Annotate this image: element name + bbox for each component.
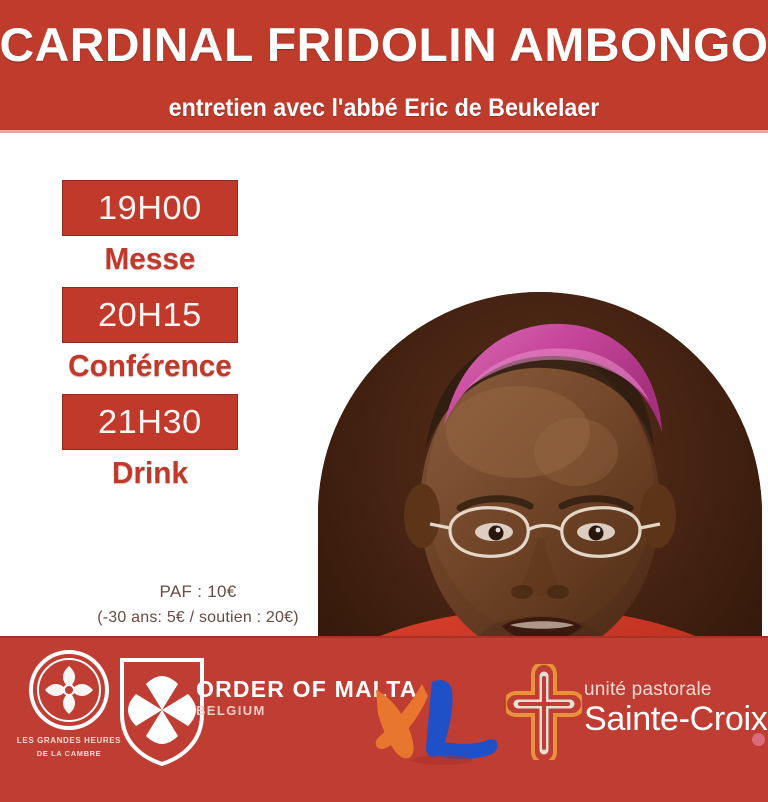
logo-caption: LES GRANDES HEURES DE LA CAMBRE [14,734,124,760]
schedule-time-box: 19H00 [62,180,238,236]
sainte-croix-line-2: Sainte-Croix [584,700,767,738]
logo-les-grandes-heures: LES GRANDES HEURES DE LA CAMBRE [14,648,124,780]
rosette-icon [14,648,124,780]
schedule-item: 20H15 Conférence [40,287,280,384]
poster-header: CARDINAL FRIDOLIN AMBONGO entretien avec… [0,0,768,133]
schedule-item: 21H30 Drink [40,394,280,491]
logo-sainte-croix-cross [506,664,582,760]
poster-footer: LES GRANDES HEURES DE LA CAMBRE OR [0,636,768,802]
sponsor-logo-row: LES GRANDES HEURES DE LA CAMBRE OR [0,636,768,802]
schedule-label: Drink [44,455,255,491]
schedule-label: Conférence [44,348,255,384]
cross-icon [506,664,582,760]
page-title: CARDINAL FRIDOLIN AMBONGO [0,19,768,71]
poster-body: 19H00 Messe 20H15 Conférence 21H30 Drink… [0,136,768,636]
schedule-label: Messe [44,241,255,277]
logo-xl [372,668,502,768]
cambre-line-2: DE LA CAMBRE [14,747,124,760]
schedule-list: 19H00 Messe 20H15 Conférence 21H30 Drink… [40,180,280,501]
sainte-croix-logo-text: unité pastorale Sainte-Croix [584,678,767,738]
pricing-info: PAF : 10€ (-30 ans: 5€ / soutien : 20€) [48,580,348,630]
schedule-time: 21H30 [98,403,202,441]
price-main: PAF : 10€ [48,580,348,604]
event-poster: CARDINAL FRIDOLIN AMBONGO entretien avec… [0,0,768,802]
price-details: (-30 ans: 5€ / soutien : 20€) [48,606,348,630]
schedule-time: 20H15 [98,296,202,334]
cambre-line-1: LES GRANDES HEURES [14,734,124,747]
page-subtitle: entretien avec l'abbé Eric de Beukelaer [27,93,741,123]
schedule-time-box: 20H15 [62,287,238,343]
sainte-croix-dot [752,733,765,746]
schedule-item: 19H00 Messe [40,180,280,277]
xl-icon [372,668,502,768]
schedule-time-box: 21H30 [62,394,238,450]
sainte-croix-line-1: unité pastorale [584,678,767,701]
schedule-time: 19H00 [98,189,202,227]
